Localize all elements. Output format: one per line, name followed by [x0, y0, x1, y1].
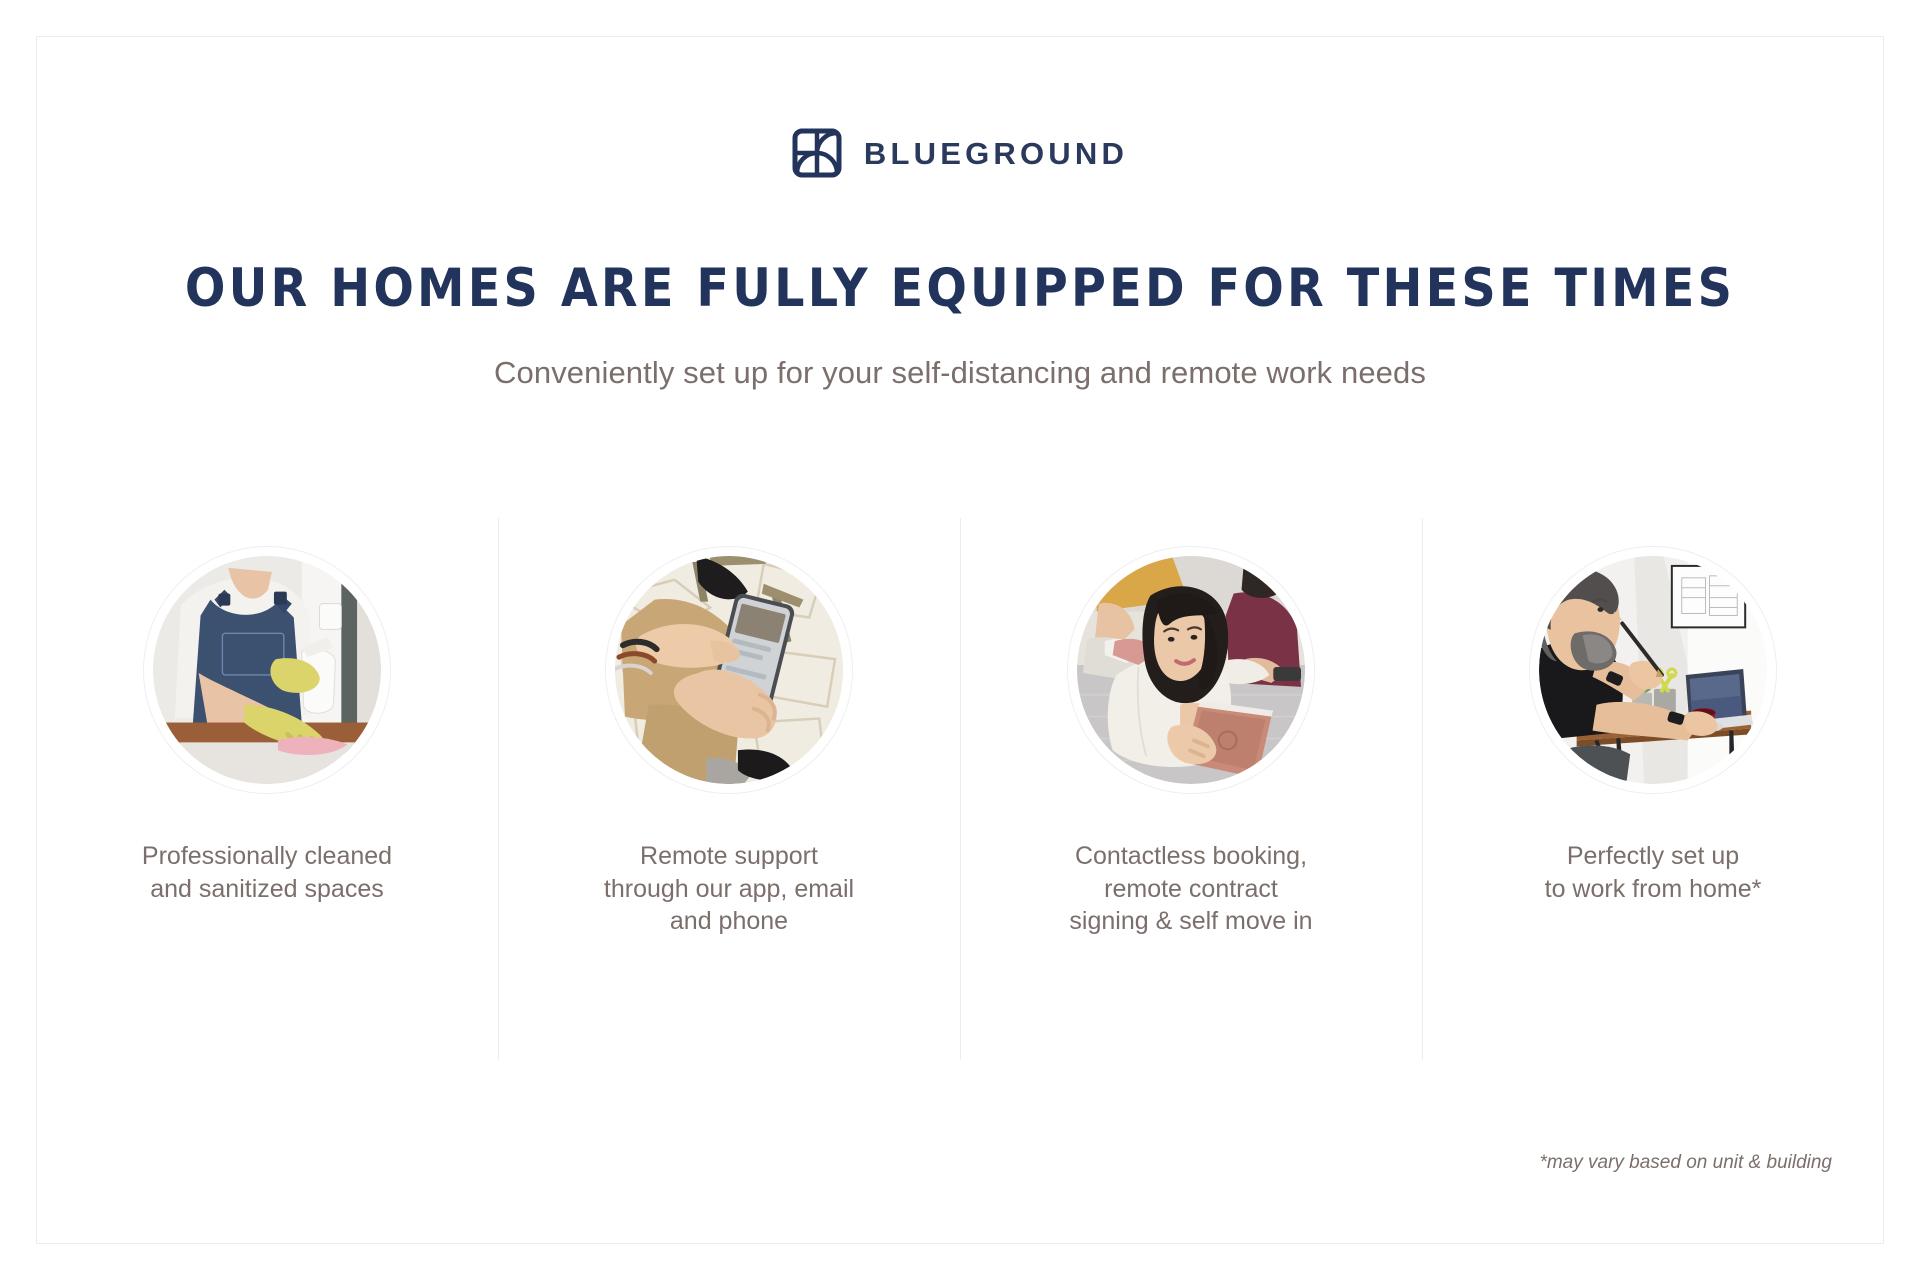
page-title: OUR HOMES ARE FULLY EQUIPPED FOR THESE T…	[0, 258, 1920, 319]
caption-line: Contactless booking,	[1069, 840, 1312, 873]
caption-line: signing & self move in	[1069, 905, 1312, 938]
photo-work-from-home-desk	[1529, 546, 1777, 794]
caption-line: Remote support	[604, 840, 854, 873]
brand-wordmark: BLUEGROUND	[864, 138, 1128, 169]
brand-logo: BLUEGROUND	[0, 128, 1920, 178]
photo-cleaning-professional	[143, 546, 391, 794]
photo-contactless-booking-tablet	[1067, 546, 1315, 794]
feature-column-remote-support: Remote support through our app, email an…	[498, 518, 960, 1060]
caption-line: Perfectly set up	[1545, 840, 1762, 873]
caption-line: and phone	[604, 905, 854, 938]
poster-canvas: BLUEGROUND OUR HOMES ARE FULLY EQUIPPED …	[0, 0, 1920, 1280]
feature-column-work-from-home: Perfectly set up to work from home*	[1422, 518, 1884, 1060]
footnote-disclaimer: *may vary based on unit & building	[1539, 1152, 1832, 1174]
feature-columns: Professionally cleaned and sanitized spa…	[36, 518, 1884, 1060]
photo-remote-support-phone	[605, 546, 853, 794]
blueground-square-logo-icon	[792, 128, 842, 178]
caption-line: Professionally cleaned	[142, 840, 392, 873]
feature-column-cleaning: Professionally cleaned and sanitized spa…	[36, 518, 498, 1060]
caption-line: remote contract	[1069, 873, 1312, 906]
feature-column-contactless-booking: Contactless booking, remote contract sig…	[960, 518, 1422, 1060]
feature-caption-contactless-booking: Contactless booking, remote contract sig…	[1069, 840, 1312, 938]
feature-caption-remote-support: Remote support through our app, email an…	[604, 840, 854, 938]
caption-line: and sanitized spaces	[142, 873, 392, 906]
page-subtitle: Conveniently set up for your self-distan…	[0, 355, 1920, 391]
feature-caption-work-from-home: Perfectly set up to work from home*	[1545, 840, 1762, 905]
caption-line: to work from home*	[1545, 873, 1762, 906]
caption-line: through our app, email	[604, 873, 854, 906]
feature-caption-cleaning: Professionally cleaned and sanitized spa…	[142, 840, 392, 905]
